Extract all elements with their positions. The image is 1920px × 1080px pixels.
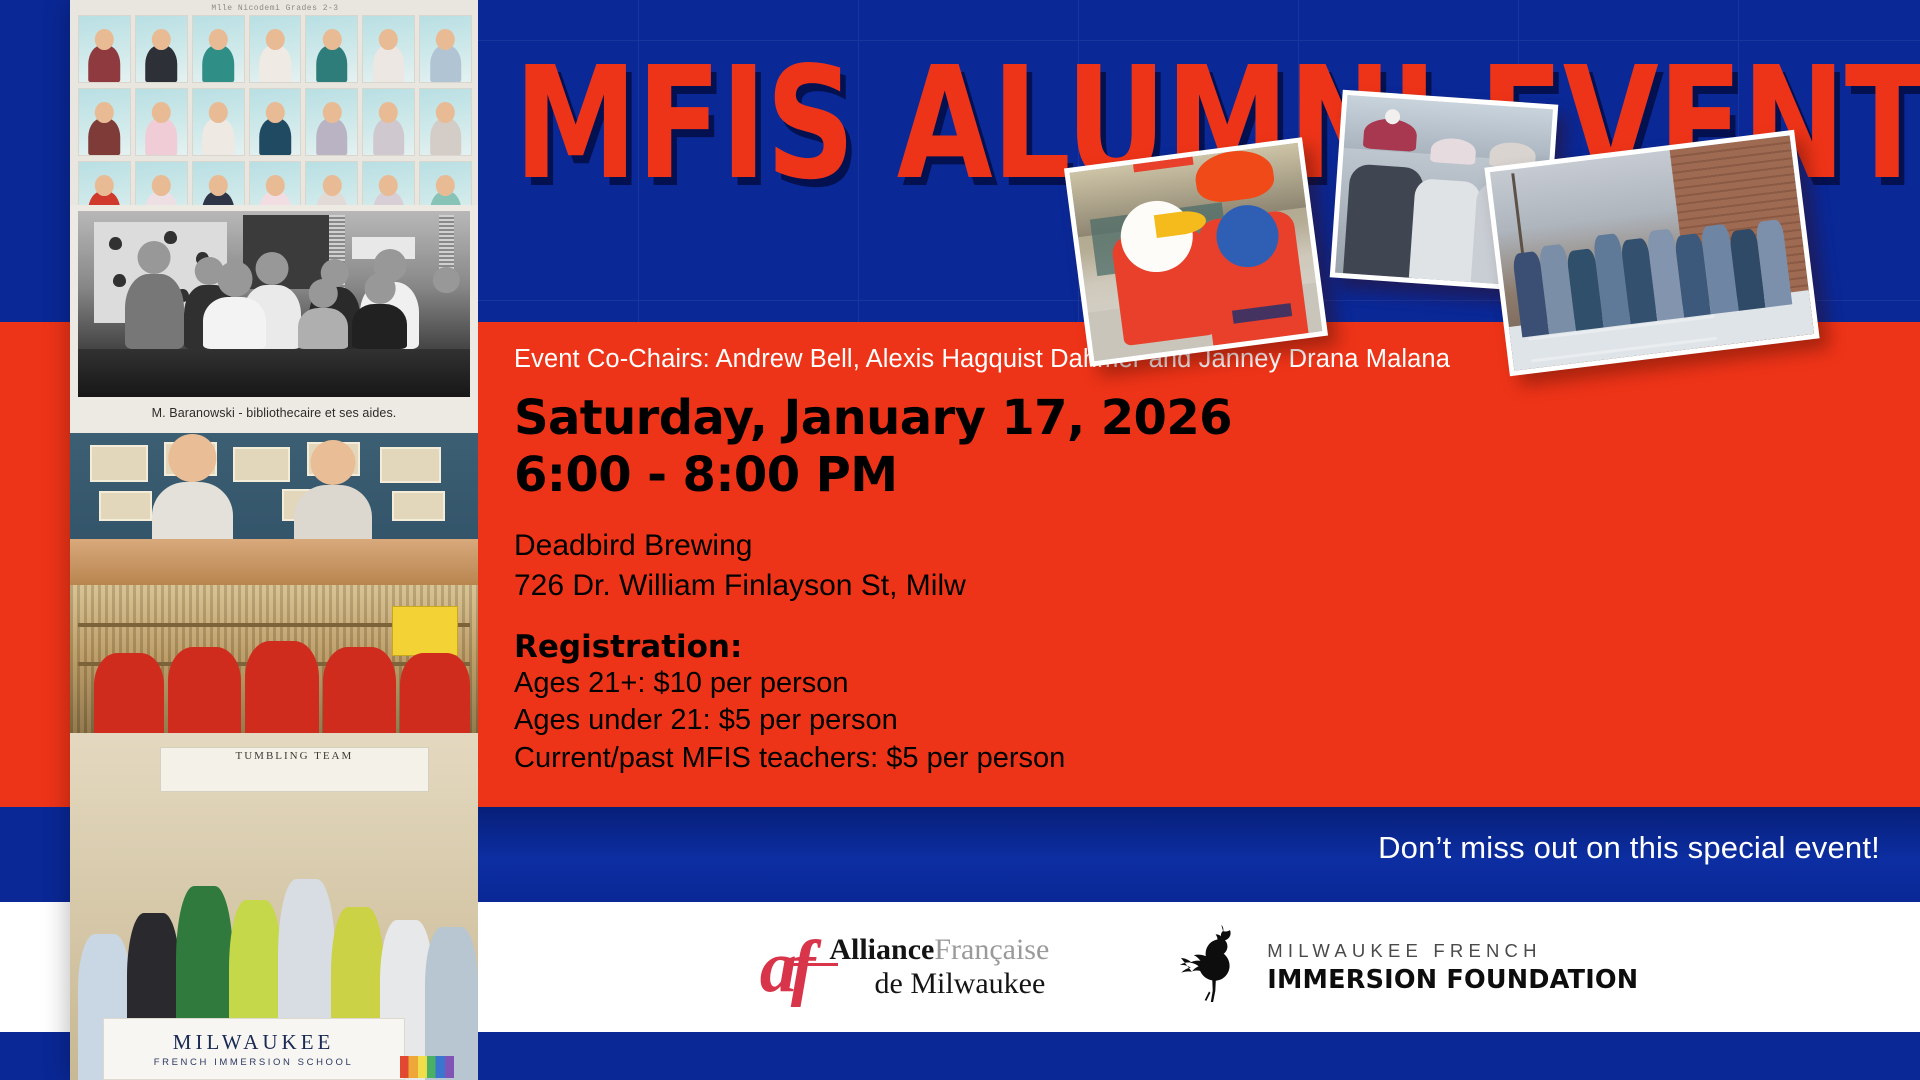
yearbook-grid-header: Mlle Nicodemi Grades 2-3 [78,4,472,15]
school-banner-line1: MILWAUKEE [173,1030,335,1055]
vintage-photo-strip: Mlle Nicodemi Grades 2-3 [70,0,478,1080]
yearbook-portrait-grid [78,15,472,205]
yearbook-portrait [305,161,358,205]
yearbook-portrait [249,15,302,83]
library-bookshelves [70,585,478,733]
venue-name: Deadbird Brewing [514,526,1294,566]
yearbook-portrait [135,15,188,83]
student [94,653,163,733]
yearbook-portrait [305,15,358,83]
library-red-shirts-photo [70,585,478,733]
event-datetime: Saturday, January 17, 2026 6:00 - 8:00 P… [514,390,1294,504]
alliance-francaise-logo: af AllianceFrançaise de Milwaukee [760,933,1050,1001]
footer-logos: af AllianceFrançaise de Milwaukee [478,902,1920,1032]
registration-price-teachers: Current/past MFIS teachers: $5 per perso… [514,740,1294,778]
photo-image [1490,135,1814,370]
yearbook-portrait [192,15,245,83]
event-tagline: Don’t miss out on this special event! [1378,830,1880,866]
left-photo-rail: Mlle Nicodemi Grades 2-3 [0,0,478,1080]
af-monogram-icon: af [760,937,816,998]
person [125,274,184,348]
tumbling-team-banner-text: TUMBLING TEAM [161,748,428,766]
yearbook-portrait [135,88,188,156]
tumbling-team-banner: TUMBLING TEAM [160,747,429,792]
venue-address: 726 Dr. William Finlayson St, Milw [514,566,1294,606]
student [168,647,241,733]
event-venue: Deadbird Brewing 726 Dr. William Finlays… [514,526,1294,606]
student-artwork [380,447,441,483]
event-time: 6:00 - 8:00 PM [514,447,1294,504]
alliance-text: Alliance [829,933,934,966]
yearbook-portrait [362,88,415,156]
student-in-red-shirt [1197,209,1309,346]
yearbook-portrait [362,161,415,205]
footer-blue-band [478,1032,1920,1080]
school-banner-line2: FRENCH IMMERSION SCHOOL [154,1057,354,1068]
yearbook-class-photo-grid: Mlle Nicodemi Grades 2-3 [70,0,478,205]
yearbook-portrait [419,161,472,205]
milwaukee-french-text: MILWAUKEE FRENCH [1267,940,1638,962]
seated-librarian [203,297,266,349]
tumbling-team-group-photo: TUMBLING TEAM MILWAUKEE FRENCH IMMERSION… [70,733,478,1080]
library-aides-group-photo: M. Baranowski - bibliothecaire et ses ai… [70,205,478,433]
person [423,293,470,349]
rooster-mascot-and-student-photo [1064,137,1328,367]
yearbook-portrait [192,161,245,205]
mfis-foundation-logo: MILWAUKEE FRENCH IMMERSION FOUNDATION [1179,925,1638,1009]
yearbook-portrait [78,161,131,205]
yearbook-portrait [362,15,415,83]
school-name-banner: MILWAUKEE FRENCH IMMERSION SCHOOL [103,1018,405,1080]
library-desk [78,349,470,397]
art-wall [70,433,478,585]
student [323,647,396,733]
francaise-text: Française [934,933,1049,966]
yearbook-portrait [419,88,472,156]
registration-heading: Registration: [514,629,1294,665]
student-artwork [90,445,147,481]
yearbook-portrait [78,88,131,156]
registration-price-adult: Ages 21+: $10 per person [514,665,1294,703]
registration-price-youth: Ages under 21: $5 per person [514,702,1294,740]
class-on-snowy-steps-photo [1484,130,1819,376]
student-artwork [233,447,290,482]
yearbook-portrait [192,88,245,156]
student [400,653,469,733]
rainbow-decoration [400,1056,454,1078]
yearbook-portrait [249,88,302,156]
photo-caption: M. Baranowski - bibliothecaire et ses ai… [78,397,470,420]
gym-wall: TUMBLING TEAM MILWAUKEE FRENCH IMMERSION… [70,733,478,1080]
photo-image [1070,143,1323,361]
classroom-art-wall-photo [70,433,478,585]
student-artwork [392,491,445,521]
yearbook-portrait [305,88,358,156]
flyer-main-panel: MFIS ALUMNI EVENT Event Co-Chairs: Andre… [478,0,1920,1080]
student [245,641,318,733]
yearbook-portrait [419,15,472,83]
rooster-icon [1179,925,1245,1009]
alumni-event-flyer: Mlle Nicodemi Grades 2-3 [0,0,1920,1080]
yearbook-portrait [78,15,131,83]
de-milwaukee-text: de Milwaukee [829,967,1049,1001]
student-artwork [99,491,152,521]
classroom-table [70,539,478,585]
alliance-francaise-wordmark: AllianceFrançaise de Milwaukee [829,933,1049,1001]
immersion-foundation-text: IMMERSION FOUNDATION [1267,965,1638,995]
bw-photo-image [78,211,470,397]
clover-cutout [109,237,122,250]
yearbook-portrait [249,161,302,205]
event-date: Saturday, January 17, 2026 [514,390,1294,447]
yearbook-portrait [135,161,188,205]
mfis-foundation-wordmark: MILWAUKEE FRENCH IMMERSION FOUNDATION [1267,940,1638,995]
seated-person [352,304,407,349]
event-details-block: Event Co-Chairs: Andrew Bell, Alexis Hag… [514,345,1294,778]
seated-person [298,308,349,349]
